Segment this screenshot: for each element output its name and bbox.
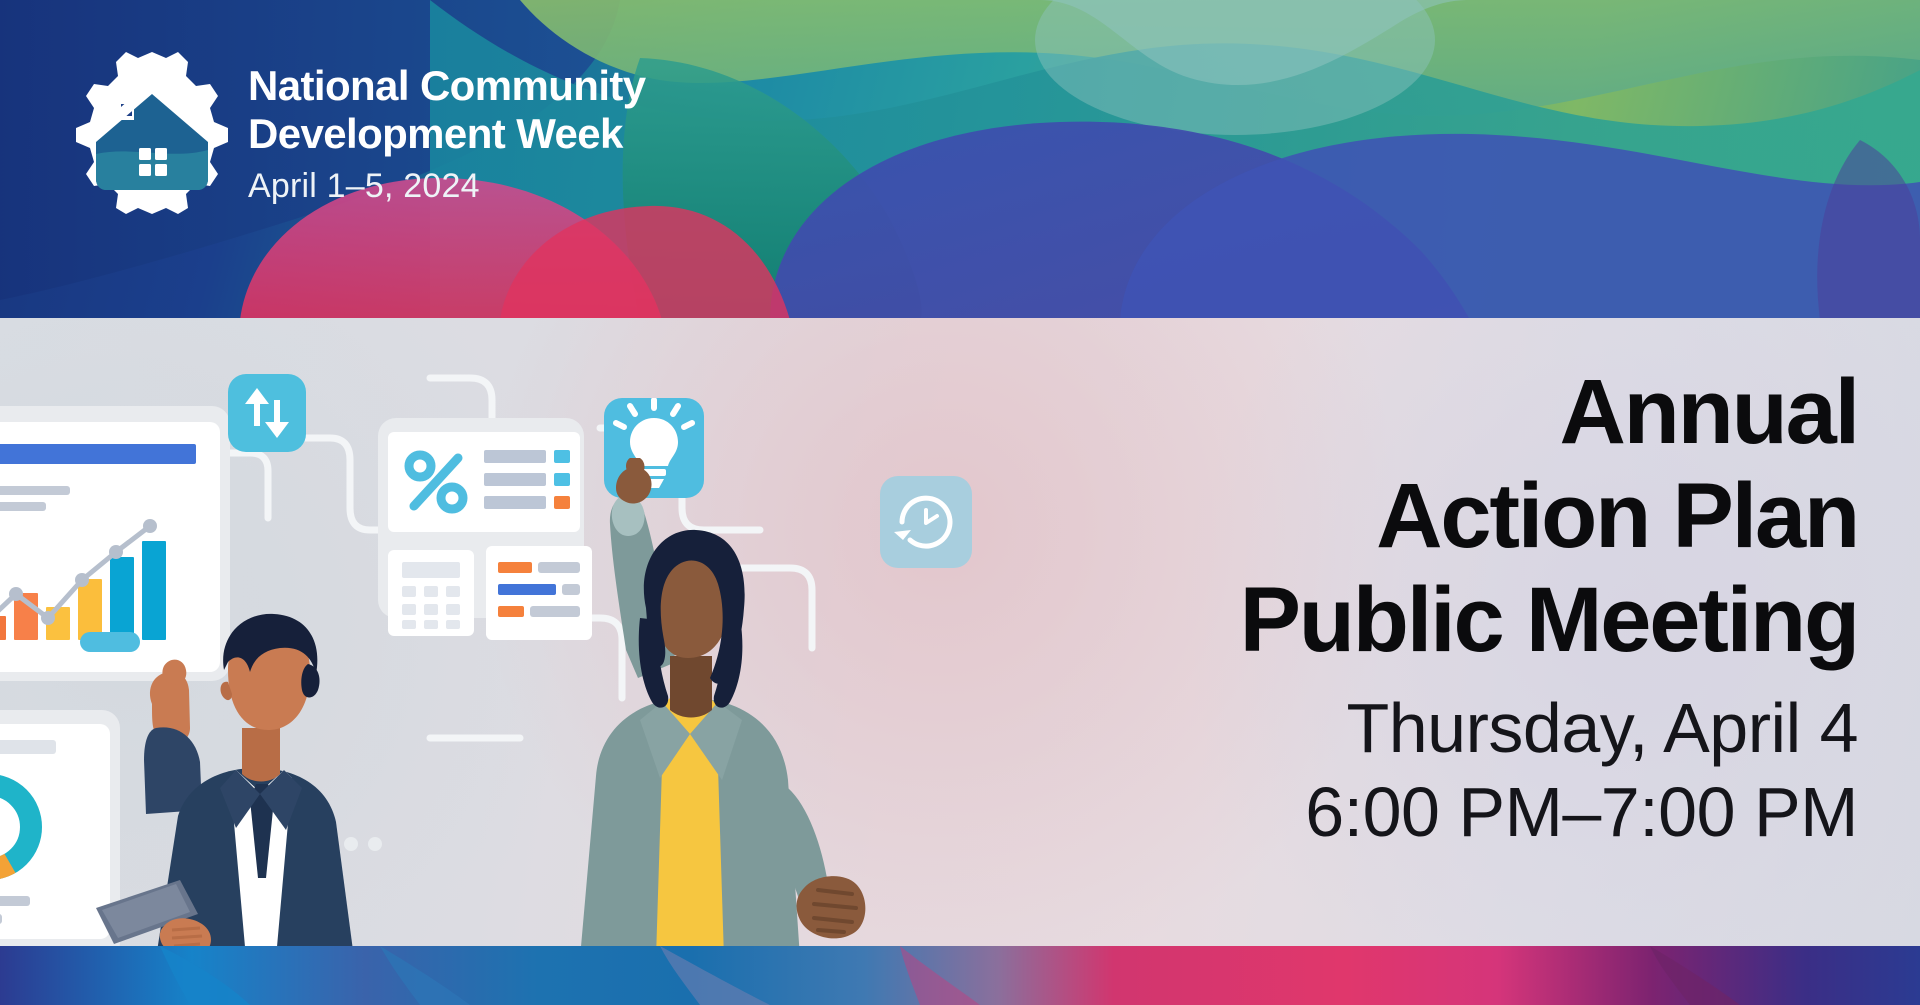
event-time: 6:00 PM–7:00 PM: [978, 770, 1858, 854]
logo-dates: April 1–5, 2024: [248, 166, 768, 206]
event-banner: National Community Development Week Apri…: [0, 0, 1920, 1005]
bottom-wave-graphics: [0, 946, 1920, 1005]
logo-title-line2: Development Week: [248, 110, 768, 158]
bottom-wave-band: [0, 946, 1920, 1005]
headline-block: Annual Action Plan Public Meeting Thursd…: [978, 360, 1858, 854]
event-when-block: Thursday, April 4 6:00 PM–7:00 PM: [978, 686, 1858, 854]
donut-card-titlebar: [0, 740, 56, 754]
donut-legend-line: [0, 914, 2, 924]
event-date: Thursday, April 4: [978, 686, 1858, 770]
logo-title-line1: National Community: [248, 62, 768, 110]
percent-icon: [402, 448, 470, 516]
gear-house-logo-icon: [72, 50, 232, 215]
headline-line1: Annual: [978, 360, 1858, 464]
logo-text-block: National Community Development Week Apri…: [248, 62, 768, 206]
clock-history-tile: [880, 476, 972, 568]
chart-label-line: [0, 486, 70, 495]
person-raising-hand: [500, 458, 880, 948]
top-wave-band: National Community Development Week Apri…: [0, 0, 1920, 320]
donut-legend-line: [0, 896, 30, 906]
headline-line3: Public Meeting: [978, 568, 1858, 672]
person-suit: [60, 578, 460, 948]
headline-line2: Action Plan: [978, 464, 1858, 568]
transfer-arrows-tile: [228, 374, 306, 452]
transfer-arrows-icon: [228, 374, 306, 452]
chart-card-titlebar: [0, 444, 196, 464]
gear-house-logo: [72, 50, 232, 215]
clock-history-icon: [880, 476, 972, 568]
donut-chart-icon: [0, 772, 44, 882]
